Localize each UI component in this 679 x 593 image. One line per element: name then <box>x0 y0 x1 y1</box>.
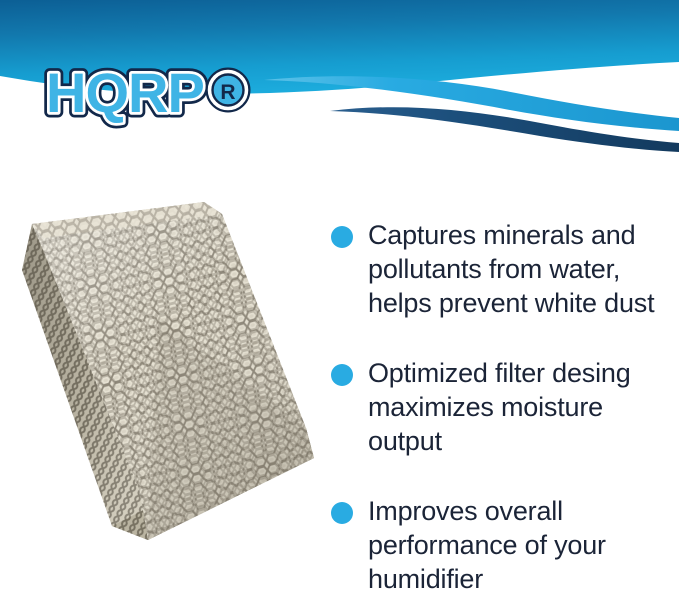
registered-trademark-letter: R <box>220 81 235 104</box>
feature-list: Captures minerals and pollutants from wa… <box>331 218 679 593</box>
bullet-dot-icon <box>331 502 353 524</box>
feature-item-minerals: Captures minerals and pollutants from wa… <box>331 218 679 320</box>
bullet-dot-icon <box>331 364 353 386</box>
feature-item-design: Optimized filter desing maximizes moistu… <box>331 356 679 458</box>
logo-wordmark-fill: HQRP <box>46 62 204 124</box>
hqrp-logo: HQRP HQRP HQRP R <box>42 62 257 134</box>
product-image-humidifier-filter <box>8 196 326 548</box>
bullet-dot-icon <box>331 226 353 248</box>
product-marketing-image: HQRP HQRP HQRP R <box>0 0 679 593</box>
registered-trademark-icon: R <box>210 72 246 108</box>
humidifier-filter-graphic <box>8 196 326 548</box>
feature-text-minerals: Captures minerals and pollutants from wa… <box>368 218 679 320</box>
feature-text-design: Optimized filter desing maximizes moistu… <box>368 356 679 458</box>
feature-text-performance: Improves overall performance of your hum… <box>368 494 679 593</box>
hqrp-logo-graphic: HQRP HQRP HQRP R <box>42 62 257 134</box>
feature-item-performance: Improves overall performance of your hum… <box>331 494 679 593</box>
